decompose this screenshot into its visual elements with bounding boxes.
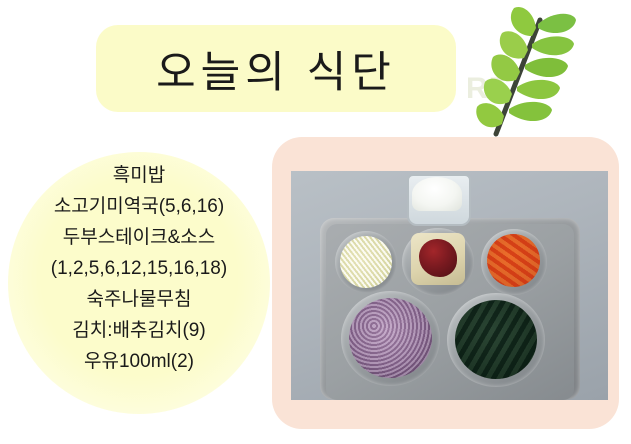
food-seaweed-soup	[455, 300, 537, 379]
lunch-menu-poster: 오늘의 식단 RF 흑미밥 소고기미역국(5,6,16) 두부스테이크&소스 (…	[0, 0, 631, 444]
menu-list: 흑미밥 소고기미역국(5,6,16) 두부스테이크&소스 (1,2,5,6,12…	[8, 160, 270, 377]
menu-item-allergens: (1,2,5,6,12,15,16,18)	[8, 253, 270, 284]
menu-item-rice: 흑미밥	[8, 160, 270, 191]
menu-item-sprouts: 숙주나물무침	[8, 284, 270, 315]
menu-item-tofu: 두부스테이크&소스	[8, 222, 270, 253]
milk-liquid	[412, 177, 462, 211]
food-bean-sprout-salad	[340, 236, 392, 288]
menu-item-soup: 소고기미역국(5,6,16)	[8, 191, 270, 222]
fern-leaf-icon	[462, 2, 582, 142]
food-black-rice	[349, 298, 432, 378]
menu-item-kimchi: 김치:배추김치(9)	[8, 315, 270, 346]
food-tofu-sauce	[419, 239, 457, 277]
menu-item-milk: 우유100ml(2)	[8, 346, 270, 377]
food-kimchi	[487, 234, 540, 287]
lunch-tray-photo	[291, 171, 608, 400]
page-title: 오늘의 식단	[96, 25, 456, 112]
